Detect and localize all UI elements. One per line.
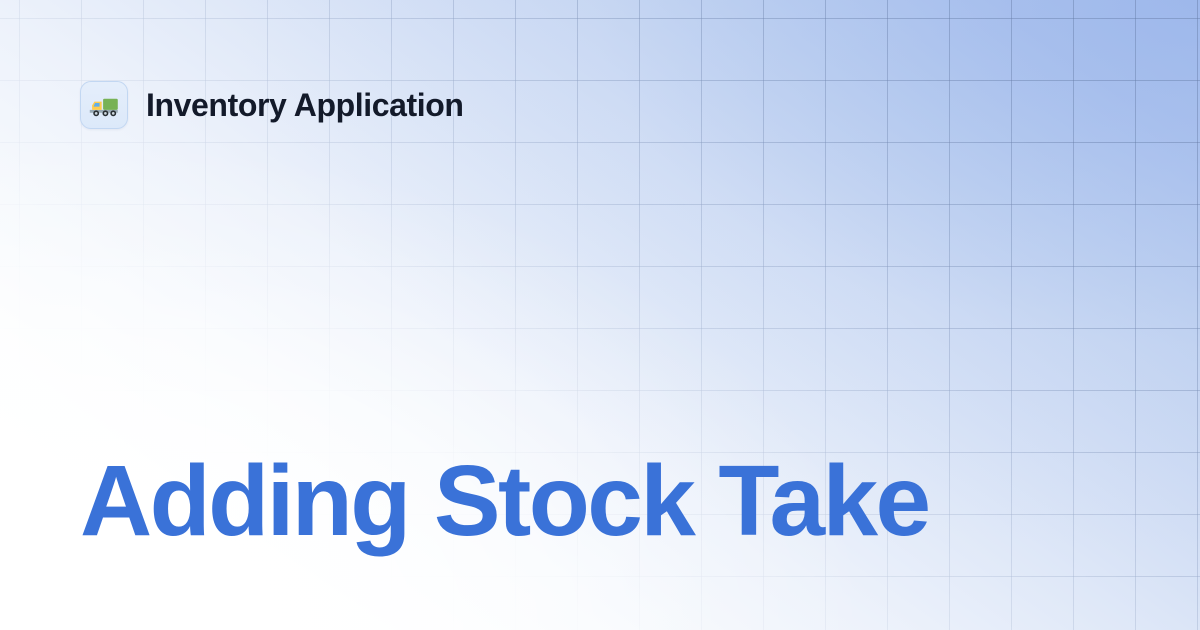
brand-title: Inventory Application [146,89,464,121]
page-title: Adding Stock Take [80,446,929,556]
brand-row: Inventory Application [80,81,464,129]
social-preview-card: Inventory Application Adding Stock Take [0,0,1200,630]
card-content: Inventory Application Adding Stock Take [0,0,1200,630]
delivery-truck-icon [80,81,128,129]
